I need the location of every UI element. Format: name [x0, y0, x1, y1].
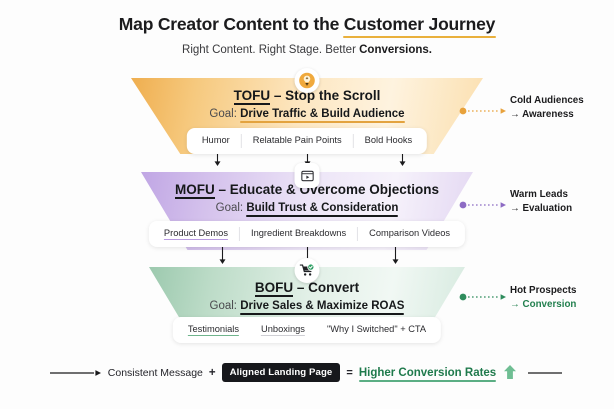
footer-formula: Consistent Message + Aligned Landing Pag…	[0, 363, 614, 382]
footer-trail-line	[524, 368, 564, 378]
video-play-icon	[295, 163, 320, 188]
tag-item[interactable]: Comparison Videos	[358, 226, 461, 242]
stage-tofu-goal-label: Goal:	[209, 108, 240, 120]
stage-bofu-goal: Goal: Drive Sales & Maximize ROAS	[0, 300, 614, 312]
tag-label: Testimonials	[188, 324, 239, 336]
tag-label: Unboxings	[261, 324, 305, 336]
tag-label: "Why I Switched" + CTA	[327, 324, 426, 334]
stage-tofu-goal: Goal: Drive Traffic & Build Audience	[0, 108, 614, 120]
page-title-accent: Customer Journey	[344, 14, 495, 35]
stage-mofu-goal-value: Build Trust & Consideration	[246, 202, 398, 214]
stage-tofu-title-rest: – Stop the Scroll	[270, 88, 380, 103]
footer-equals: =	[346, 367, 352, 379]
cart-check-icon	[295, 258, 320, 283]
up-arrow-icon	[502, 364, 518, 381]
infographic-canvas: Map Creator Content to the Customer Jour…	[0, 0, 614, 409]
stage-mofu-abbr: MOFU	[175, 182, 215, 199]
page-subtitle-bold: Conversions.	[359, 44, 432, 56]
stage-bofu-heading: BOFU – Convert Goal: Drive Sales & Maxim…	[0, 280, 614, 312]
stage-mofu-goal-label: Goal:	[216, 202, 247, 214]
footer-chip-landing-page[interactable]: Aligned Landing Page	[222, 363, 341, 382]
stage-tofu-abbr: TOFU	[234, 88, 271, 105]
page-subtitle-plain: Right Content. Right Stage. Better	[182, 44, 359, 56]
tag-item[interactable]: Bold Hooks	[354, 133, 424, 149]
tag-item[interactable]: "Why I Switched" + CTA	[316, 322, 437, 338]
tag-item[interactable]: Testimonials	[177, 322, 250, 338]
tag-item[interactable]: Relatable Pain Points	[242, 133, 353, 149]
stage-tofu-tags: Humor Relatable Pain Points Bold Hooks	[187, 128, 427, 154]
tag-label: Relatable Pain Points	[253, 135, 342, 145]
stage-bofu-goal-label: Goal:	[210, 300, 241, 312]
stage-bofu-tags: Testimonials Unboxings "Why I Switched" …	[173, 317, 441, 343]
tag-label: Humor	[202, 135, 230, 145]
tag-label: Comparison Videos	[369, 228, 450, 238]
lightbulb-icon	[295, 68, 320, 93]
tag-item[interactable]: Ingredient Breakdowns	[240, 226, 357, 242]
footer-result: Higher Conversion Rates	[359, 367, 496, 379]
stage-bofu-abbr: BOFU	[255, 280, 293, 297]
tag-label: Product Demos	[164, 228, 228, 240]
footer-plus: +	[209, 367, 216, 379]
tag-item[interactable]: Humor	[191, 133, 241, 149]
tag-item[interactable]: Unboxings	[250, 322, 316, 338]
stage-bofu-goal-value: Drive Sales & Maximize ROAS	[240, 300, 404, 312]
tag-item[interactable]: Product Demos	[153, 226, 239, 242]
stage-mofu-tags: Product Demos Ingredient Breakdowns Comp…	[149, 221, 465, 247]
page-title-plain: Map Creator Content to the	[119, 14, 344, 34]
header: Map Creator Content to the Customer Jour…	[0, 14, 614, 56]
page-title: Map Creator Content to the Customer Jour…	[0, 14, 614, 35]
stage-mofu-title-rest: – Educate & Overcome Objections	[215, 182, 439, 197]
stage-tofu-goal-value: Drive Traffic & Build Audience	[240, 108, 404, 120]
down-arrow-icon	[391, 246, 400, 266]
page-subtitle: Right Content. Right Stage. Better Conve…	[0, 44, 614, 56]
down-arrow-icon	[218, 246, 227, 266]
footer-lead-arrow-icon	[50, 368, 102, 378]
stage-mofu-goal: Goal: Build Trust & Consideration	[0, 202, 614, 214]
tag-label: Ingredient Breakdowns	[251, 228, 346, 238]
tag-label: Bold Hooks	[365, 135, 413, 145]
footer-message: Consistent Message	[108, 367, 203, 379]
